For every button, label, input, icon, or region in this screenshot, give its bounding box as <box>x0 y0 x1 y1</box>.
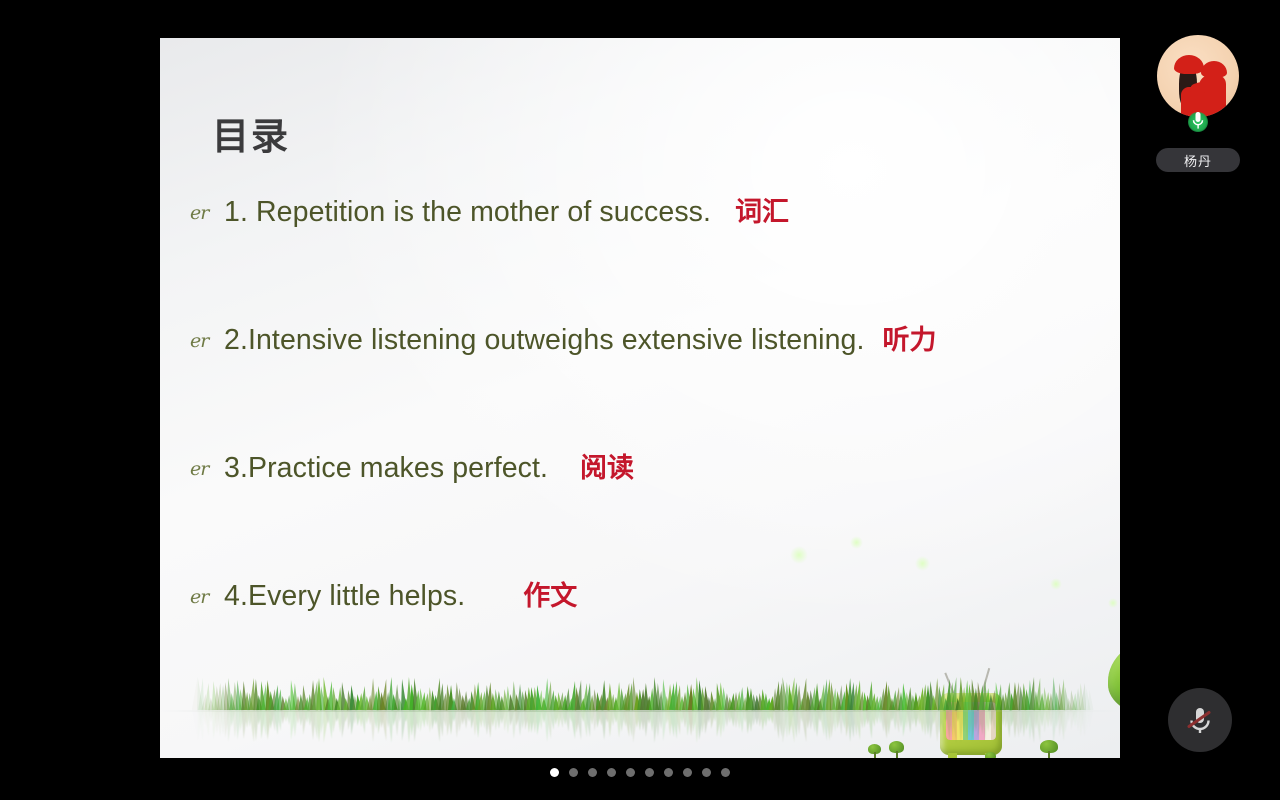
grass-blade <box>894 710 902 733</box>
grass-blade <box>696 710 703 740</box>
grass-blade <box>520 710 527 729</box>
grass-blade <box>568 710 575 722</box>
grass-blade <box>454 710 460 738</box>
screen-root: 目录 er 1. Repetition is the mother of suc… <box>0 0 1280 800</box>
grass-blade <box>838 710 845 735</box>
grass-blade <box>499 710 505 724</box>
presentation-slide[interactable]: 目录 er 1. Repetition is the mother of suc… <box>160 38 1120 758</box>
grass-blade <box>570 710 578 739</box>
grass-blade <box>538 710 545 730</box>
grass-blade <box>754 710 760 725</box>
grass-blade <box>1050 710 1057 743</box>
grass-blade <box>1087 710 1094 730</box>
grass-blade <box>660 710 668 741</box>
grass-blade <box>367 710 373 725</box>
grass-blade <box>204 710 211 737</box>
grass-blade <box>712 710 718 722</box>
grass-blade <box>406 710 412 743</box>
grass-blade <box>399 710 407 741</box>
grass-blade <box>913 710 919 728</box>
shrub-stem-icon <box>1048 751 1050 758</box>
grass-blade <box>487 710 494 738</box>
grass-blade <box>621 710 628 727</box>
grass-blade <box>814 710 820 737</box>
grass-blade <box>1033 710 1039 729</box>
grass-blade <box>1002 710 1009 728</box>
grass-blade <box>690 710 698 732</box>
grass-blade <box>610 710 617 726</box>
grass-blade <box>817 710 824 722</box>
grass-blade <box>640 710 646 731</box>
grass-blade <box>522 710 530 730</box>
list-item[interactable]: er 4.Every little helps. 作文 <box>190 574 1110 702</box>
tv-color-bar <box>991 702 997 740</box>
grass-blade <box>544 710 551 742</box>
grass-blade <box>601 710 607 740</box>
shrub-stem-icon <box>896 751 898 758</box>
grass-blade <box>321 710 330 743</box>
grass-blade <box>679 710 685 724</box>
grass-blade <box>318 710 326 734</box>
grass-blade <box>750 710 757 726</box>
grass-blade <box>1045 710 1051 728</box>
grass-blade <box>931 710 938 725</box>
grass-blade <box>789 710 798 743</box>
grass-blade <box>208 710 214 722</box>
grass-blade <box>358 710 365 727</box>
grass-blade <box>448 710 454 735</box>
grass-blade <box>847 710 853 742</box>
grass-blade <box>603 710 610 723</box>
grass-blade <box>733 710 739 728</box>
grass-blade <box>310 710 316 740</box>
pager-dot[interactable] <box>569 768 578 777</box>
list-item-english: 4.Every little helps. <box>224 580 465 613</box>
grass-blade <box>345 710 353 730</box>
grass-blade <box>211 710 218 739</box>
pager-dot[interactable] <box>721 768 730 777</box>
grass-blade <box>370 710 376 742</box>
grass-blade <box>777 710 785 737</box>
grass-blade <box>325 710 331 724</box>
grass-blade <box>664 710 671 724</box>
grass-blade <box>597 710 604 726</box>
grass-blade <box>493 710 500 731</box>
grass-blade <box>613 710 619 723</box>
grass-blade <box>774 710 782 739</box>
grass-blade <box>1072 710 1079 727</box>
grass-blade <box>1021 710 1028 737</box>
grass-blade <box>225 710 232 742</box>
grass-blade <box>810 710 818 733</box>
grass-blade <box>922 710 929 736</box>
grass-blade <box>1062 710 1070 733</box>
grass-blade <box>834 710 841 729</box>
shrub-icon <box>985 752 996 758</box>
sparkle-icon <box>850 536 863 549</box>
grass-blade <box>421 710 428 728</box>
grass-blade <box>669 710 677 737</box>
grass-blade <box>627 710 635 737</box>
list-item[interactable]: er 3.Practice makes perfect. 阅读 <box>190 446 1110 574</box>
shrub-stem-icon <box>874 752 876 758</box>
grass-blade <box>502 710 509 731</box>
grass-blade <box>646 710 652 724</box>
grass-blade <box>364 710 371 724</box>
grass-blade <box>591 710 598 731</box>
grass-blade <box>582 710 590 737</box>
grass-blade <box>688 710 694 736</box>
grass-blade <box>1029 710 1037 743</box>
grass-blade <box>760 710 767 731</box>
grass-blade <box>334 710 341 722</box>
grass-blade <box>658 710 664 729</box>
grass-blade <box>1035 710 1043 742</box>
grass-blade <box>555 710 562 728</box>
grass-blade <box>1014 710 1022 738</box>
grass-blade <box>886 710 893 735</box>
grass-blade <box>460 710 467 725</box>
avatar[interactable] <box>1157 35 1239 117</box>
grass-blade <box>805 710 812 729</box>
grass-blade <box>925 710 931 735</box>
grass-blade <box>511 710 518 739</box>
grass-blade <box>1080 710 1088 737</box>
grass-blade <box>780 710 789 743</box>
grass-blade <box>300 710 307 735</box>
grass-blade <box>589 710 595 725</box>
grass-blade <box>702 710 710 734</box>
grass-blade <box>337 710 343 733</box>
grass-blade <box>463 710 469 729</box>
grass-blade <box>1027 710 1033 740</box>
grass-blade <box>292 710 298 737</box>
grass-blade <box>438 710 445 737</box>
grass-blade <box>892 710 899 730</box>
grass-blade <box>796 710 802 735</box>
grass-blade <box>261 710 269 736</box>
grass-blade <box>840 710 847 729</box>
grass-blade <box>651 710 658 743</box>
grass-blade <box>388 710 395 743</box>
sparkle-icon <box>1108 598 1118 608</box>
grass-blade <box>667 710 673 736</box>
grass-blade <box>288 710 296 740</box>
bullet-er-icon: er <box>190 588 224 607</box>
grass-blade <box>265 710 272 740</box>
grass-blade <box>889 710 895 722</box>
grass-blade <box>241 710 248 739</box>
grass-blade <box>874 710 881 724</box>
grass-blade <box>564 710 571 732</box>
grass-blade <box>907 710 914 733</box>
grass-blade <box>877 710 884 724</box>
grass-blade <box>327 710 334 739</box>
grass-blade <box>637 710 643 731</box>
grass-blade <box>852 710 859 736</box>
grass-blade <box>553 710 560 725</box>
avatar-figure-hat <box>1174 55 1204 74</box>
grass-blade <box>576 710 584 740</box>
grass-blade <box>232 710 238 738</box>
grass-blade <box>904 710 911 728</box>
grass-blade <box>672 710 679 739</box>
grass-blade <box>390 710 397 726</box>
grass-blade <box>258 710 265 739</box>
grass-blade <box>879 710 886 732</box>
grass-blade <box>799 710 806 722</box>
grass-blade <box>247 710 254 727</box>
grass-blade <box>729 710 736 727</box>
pager-dot[interactable] <box>588 768 597 777</box>
grass-blade <box>1008 710 1015 727</box>
grass-blade <box>505 710 511 734</box>
grass-blade <box>699 710 707 733</box>
grass-blade <box>195 710 204 743</box>
grass-blade <box>867 710 874 739</box>
grass-blade <box>1006 710 1013 738</box>
grass-blade <box>618 710 625 732</box>
grass-blade <box>385 710 391 728</box>
grass-blade <box>675 710 683 735</box>
grass-blade <box>594 710 602 728</box>
grass-blade <box>444 710 451 736</box>
grass-blade <box>339 710 347 738</box>
grass-blade <box>316 710 322 742</box>
grass-blade <box>624 710 632 737</box>
grass-blade <box>649 710 655 732</box>
grass-blade <box>859 710 866 729</box>
grass-blade <box>409 710 416 736</box>
grass-blade <box>307 710 314 726</box>
grass-blade <box>786 710 794 736</box>
grass-blade <box>214 710 220 734</box>
grass-blade <box>468 710 475 729</box>
grass-blade <box>381 710 389 741</box>
pager-dot[interactable] <box>550 768 559 777</box>
table-of-contents: er 1. Repetition is the mother of succes… <box>190 190 1110 702</box>
grass-blade <box>742 710 748 723</box>
grass-blade <box>378 710 385 728</box>
grass-blade <box>403 710 409 722</box>
grass-blade <box>616 710 622 738</box>
grass-blade <box>330 710 337 733</box>
grass-blade <box>249 710 257 742</box>
grass-blade <box>819 710 827 736</box>
grass-blade <box>427 710 434 733</box>
grass-blade <box>312 710 320 739</box>
grass-blade <box>861 710 868 728</box>
grass-blade <box>352 710 358 724</box>
grass-blade <box>304 710 311 723</box>
retro-tv-icon <box>940 693 1002 755</box>
grass-blade <box>1041 710 1048 733</box>
grass-blade <box>684 710 691 736</box>
grass-blade <box>784 710 790 738</box>
grass-blade <box>927 710 934 739</box>
grass-blade <box>855 710 863 740</box>
grass-blade <box>1078 710 1085 737</box>
grass-blade <box>394 710 400 736</box>
grass-blade <box>286 710 292 725</box>
grass-blade <box>1056 710 1063 737</box>
grass-blade <box>898 710 904 728</box>
grass-blade <box>822 710 830 741</box>
list-item-english: 2.Intensive listening outweighs extensiv… <box>224 324 865 357</box>
grass-blade <box>276 710 283 731</box>
grass-blade <box>766 710 772 722</box>
grass-blade <box>549 710 556 730</box>
grass-blade <box>768 710 775 724</box>
grass-blade <box>280 710 287 724</box>
grass-blade <box>198 710 206 742</box>
grass-blade <box>763 710 769 727</box>
grass-blade <box>1012 710 1018 738</box>
grass-blade <box>433 710 440 725</box>
grass-blade <box>256 710 263 725</box>
grass-blade <box>720 710 727 733</box>
grass-blade <box>745 710 752 734</box>
grass-blade <box>832 710 838 732</box>
grass-blade <box>484 710 490 735</box>
grass-blade <box>220 710 226 735</box>
grass-blade <box>843 710 850 737</box>
grass-blade <box>229 710 236 727</box>
list-item-chinese: 阅读 <box>580 446 634 485</box>
grass-blade <box>532 710 539 733</box>
grass-blade <box>253 710 259 741</box>
grass-blade <box>375 710 382 734</box>
participant-name-label: 杨丹 <box>1156 148 1240 172</box>
grass-blade <box>343 710 350 722</box>
grass-blade <box>706 710 712 723</box>
grass-blade <box>562 710 568 725</box>
microphone-active-icon <box>1186 107 1210 135</box>
grass-blade <box>217 710 223 737</box>
pager-dot[interactable] <box>702 768 711 777</box>
grass-blade <box>546 710 554 739</box>
grass-blade <box>1053 710 1060 728</box>
grass-blade <box>451 710 457 722</box>
grass-blade <box>480 710 487 729</box>
sparkle-icon <box>1050 578 1062 590</box>
grass-blade <box>415 710 422 730</box>
grass-blade <box>1084 710 1091 732</box>
grass-blade <box>682 710 688 728</box>
participant-tile[interactable]: 杨丹 <box>1157 35 1239 180</box>
list-item[interactable]: er 2.Intensive listening outweighs exten… <box>190 318 1110 446</box>
grass-blade <box>558 710 565 728</box>
bullet-er-icon: er <box>190 332 224 351</box>
grass-blade <box>714 710 722 737</box>
grass-blade <box>900 710 908 737</box>
grass-blade <box>801 710 809 742</box>
grass-blade <box>915 710 922 725</box>
slide-pager[interactable] <box>0 768 1280 777</box>
grass-blade <box>222 710 229 738</box>
list-item-chinese: 听力 <box>883 318 937 357</box>
grass-blade <box>456 710 463 732</box>
pager-dot[interactable] <box>664 768 673 777</box>
grass-blade <box>585 710 593 737</box>
grass-blade <box>541 710 547 723</box>
grass-blade <box>472 710 478 736</box>
pager-dot[interactable] <box>607 768 616 777</box>
page-title: 目录 <box>212 106 290 160</box>
pager-dot[interactable] <box>683 768 692 777</box>
grass-blade <box>748 710 754 732</box>
grass-blade <box>864 710 871 725</box>
grass-blade <box>808 710 815 730</box>
grass-blade <box>708 710 715 729</box>
grass-blade <box>828 710 836 738</box>
list-item-english: 1. Repetition is the mother of success. <box>224 196 711 229</box>
grass-blade <box>295 710 301 724</box>
grass-blade <box>513 710 520 726</box>
list-item-english: 3.Practice makes perfect. <box>224 452 548 485</box>
grass-blade <box>423 710 430 727</box>
grass-blade <box>1039 710 1045 727</box>
grass-blade <box>283 710 289 722</box>
grass-blade <box>1023 710 1030 731</box>
grass-blade <box>825 710 832 741</box>
sparkle-icon <box>915 556 930 571</box>
mute-microphone-button[interactable] <box>1168 688 1232 752</box>
grass-blade <box>475 710 481 738</box>
list-item-chinese: 词汇 <box>735 190 789 229</box>
grass-blade <box>871 710 878 727</box>
grass-blade <box>1068 710 1076 730</box>
grass-blade <box>718 710 725 738</box>
grass-blade <box>643 710 649 737</box>
grass-blade <box>526 710 532 733</box>
grass-blade <box>634 710 640 728</box>
grass-blade <box>573 710 580 733</box>
grass-blade <box>268 710 275 729</box>
grass-blade <box>724 710 730 727</box>
grass-blade <box>694 710 701 743</box>
grass-blade <box>417 710 424 732</box>
grass-blade <box>397 710 404 722</box>
grass-blade <box>772 710 778 732</box>
pager-dot[interactable] <box>645 768 654 777</box>
grass-blade <box>435 710 442 742</box>
grass-blade <box>496 710 502 729</box>
grass-blade <box>655 710 661 737</box>
grass-blade <box>630 710 638 743</box>
list-item[interactable]: er 1. Repetition is the mother of succes… <box>190 190 1110 318</box>
grass-blade <box>234 710 241 740</box>
grass-blade <box>1048 710 1054 727</box>
grass-blade <box>490 710 496 727</box>
grass-blade <box>1059 710 1067 741</box>
grass-blade <box>360 710 367 734</box>
list-item-chinese: 作文 <box>523 574 577 613</box>
grass-blade <box>1075 710 1081 732</box>
grass-blade <box>244 710 250 728</box>
grass-blade <box>910 710 916 725</box>
pager-dot[interactable] <box>626 768 635 777</box>
sparkle-icon <box>790 546 808 564</box>
grass-blade <box>1018 710 1025 734</box>
grass-blade <box>466 710 472 722</box>
grass-blade <box>580 710 587 722</box>
grass-blade <box>727 710 734 723</box>
bullet-er-icon: er <box>190 460 224 479</box>
grass-blade <box>792 710 799 738</box>
ornament-tree-icon <box>1100 638 1120 753</box>
grass-blade <box>441 710 448 727</box>
